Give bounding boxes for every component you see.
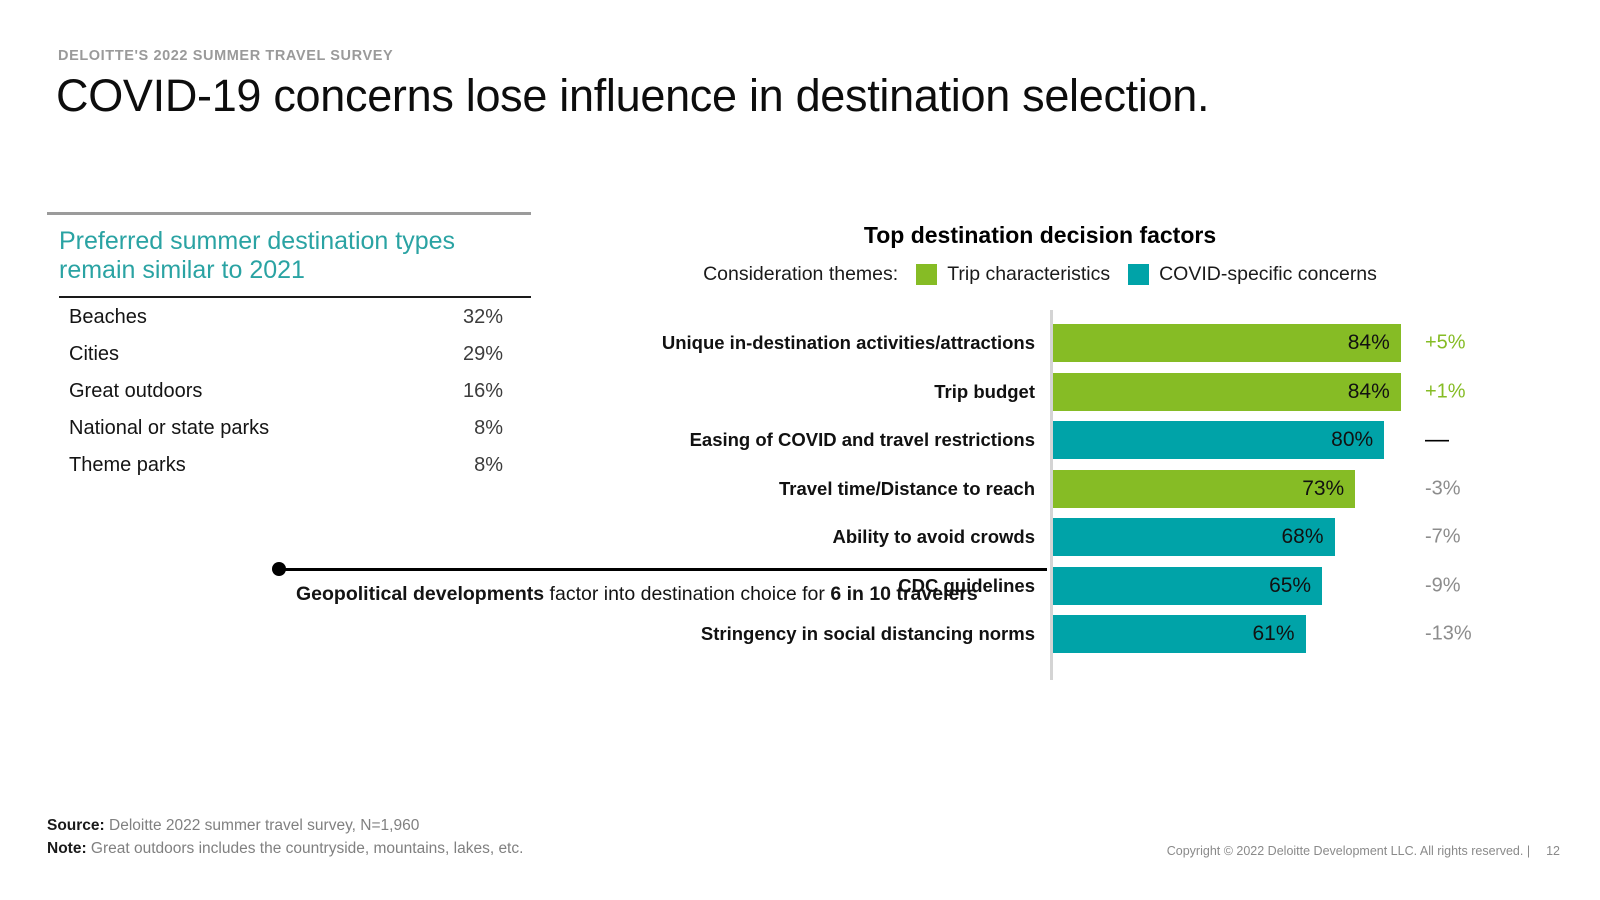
page-title: COVID-19 concerns lose influence in dest… — [56, 70, 1209, 122]
bar: 73% — [1053, 470, 1355, 508]
table-row: Cities29% — [47, 337, 531, 372]
copyright-text: Copyright © 2022 Deloitte Development LL… — [1167, 844, 1530, 858]
table-row-value: 8% — [474, 411, 503, 446]
table-row: Beaches32% — [47, 300, 531, 335]
bar: 84% — [1053, 324, 1401, 362]
delta-label: -7% — [1425, 526, 1461, 549]
table-row-label: Great outdoors — [69, 374, 202, 409]
bar: 61% — [1053, 615, 1306, 653]
eyebrow-label: DELOITTE'S 2022 SUMMER TRAVEL SURVEY — [58, 48, 393, 64]
source-label: Source: — [47, 817, 105, 834]
delta-label: — — [1425, 426, 1449, 454]
table-row: Great outdoors16% — [47, 374, 531, 409]
bar-category-label: Unique in-destination activities/attract… — [662, 332, 1035, 354]
bar: 80% — [1053, 421, 1384, 459]
table-row: National or state parks8% — [47, 411, 531, 446]
bar-category-label: Travel time/Distance to reach — [779, 478, 1035, 500]
destination-table: Beaches32%Cities29%Great outdoors16%Nati… — [47, 300, 531, 484]
legend-swatch-icon — [916, 264, 937, 285]
bar-category-label: Ability to avoid crowds — [833, 526, 1036, 548]
bar-value-label: 65% — [1269, 574, 1311, 598]
bar-row: CDC guidelines65%-9% — [560, 567, 1520, 605]
bar-value-label: 84% — [1348, 380, 1390, 404]
legend-item-trip-characteristics: Trip characteristics — [916, 263, 1110, 286]
table-row: Theme parks8% — [47, 448, 531, 483]
bar: 84% — [1053, 373, 1401, 411]
bar-category-label: CDC guidelines — [898, 575, 1035, 597]
legend-swatch-icon — [1128, 264, 1149, 285]
bar-category-label: Easing of COVID and travel restrictions — [690, 429, 1035, 451]
source-text: Deloitte 2022 summer travel survey, N=1,… — [105, 817, 420, 834]
table-row-label: Beaches — [69, 300, 147, 335]
bar-value-label: 84% — [1348, 331, 1390, 355]
callout-lead: Geopolitical developments — [296, 583, 544, 605]
footer-copyright: Copyright © 2022 Deloitte Development LL… — [1167, 844, 1560, 858]
table-row-label: Cities — [69, 337, 119, 372]
source-line: Source: Deloitte 2022 summer travel surv… — [47, 815, 523, 837]
legend-label: COVID-specific concerns — [1159, 263, 1377, 286]
bar-chart-plot: Unique in-destination activities/attract… — [560, 310, 1520, 680]
bar-value-label: 80% — [1331, 428, 1373, 452]
table-row-value: 29% — [463, 337, 503, 372]
table-row-label: Theme parks — [69, 448, 186, 483]
bar-row: Trip budget84%+1% — [560, 373, 1520, 411]
bar: 65% — [1053, 567, 1322, 605]
panel-title-divider — [59, 296, 531, 298]
note-text: Great outdoors includes the countryside,… — [87, 840, 524, 857]
bar-category-label: Trip budget — [934, 381, 1035, 403]
chart-legend: Consideration themes: Trip characteristi… — [660, 263, 1420, 286]
table-row-label: National or state parks — [69, 411, 269, 446]
table-row-value: 16% — [463, 374, 503, 409]
table-row-value: 32% — [463, 300, 503, 335]
bar-category-label: Stringency in social distancing norms — [701, 623, 1035, 645]
delta-label: -3% — [1425, 477, 1461, 500]
page-number: 12 — [1546, 844, 1560, 858]
bar-row: Travel time/Distance to reach73%-3% — [560, 470, 1520, 508]
delta-label: -9% — [1425, 574, 1461, 597]
preferred-destinations-panel: Preferred summer destination types remai… — [47, 212, 531, 483]
delta-label: +1% — [1425, 380, 1466, 403]
legend-item-covid-concerns: COVID-specific concerns — [1128, 263, 1377, 286]
chart-title: Top destination decision factors — [660, 222, 1420, 249]
bar-value-label: 68% — [1281, 525, 1323, 549]
delta-label: +5% — [1425, 332, 1466, 355]
panel-top-divider — [47, 212, 531, 215]
table-row-value: 8% — [474, 448, 503, 483]
legend-label: Trip characteristics — [947, 263, 1110, 286]
bar-row: Unique in-destination activities/attract… — [560, 324, 1520, 362]
panel-title: Preferred summer destination types remai… — [47, 227, 531, 286]
bar-row: Easing of COVID and travel restrictions8… — [560, 421, 1520, 459]
note-line: Note: Great outdoors includes the countr… — [47, 838, 523, 860]
bar: 68% — [1053, 518, 1335, 556]
bar-row: Ability to avoid crowds68%-7% — [560, 518, 1520, 556]
bar-value-label: 61% — [1253, 622, 1295, 646]
footnotes: Source: Deloitte 2022 summer travel surv… — [47, 815, 523, 860]
legend-prefix-label: Consideration themes: — [703, 263, 898, 286]
bar-value-label: 73% — [1302, 477, 1344, 501]
note-label: Note: — [47, 840, 87, 857]
bar-row: Stringency in social distancing norms61%… — [560, 615, 1520, 653]
delta-label: -13% — [1425, 623, 1472, 646]
